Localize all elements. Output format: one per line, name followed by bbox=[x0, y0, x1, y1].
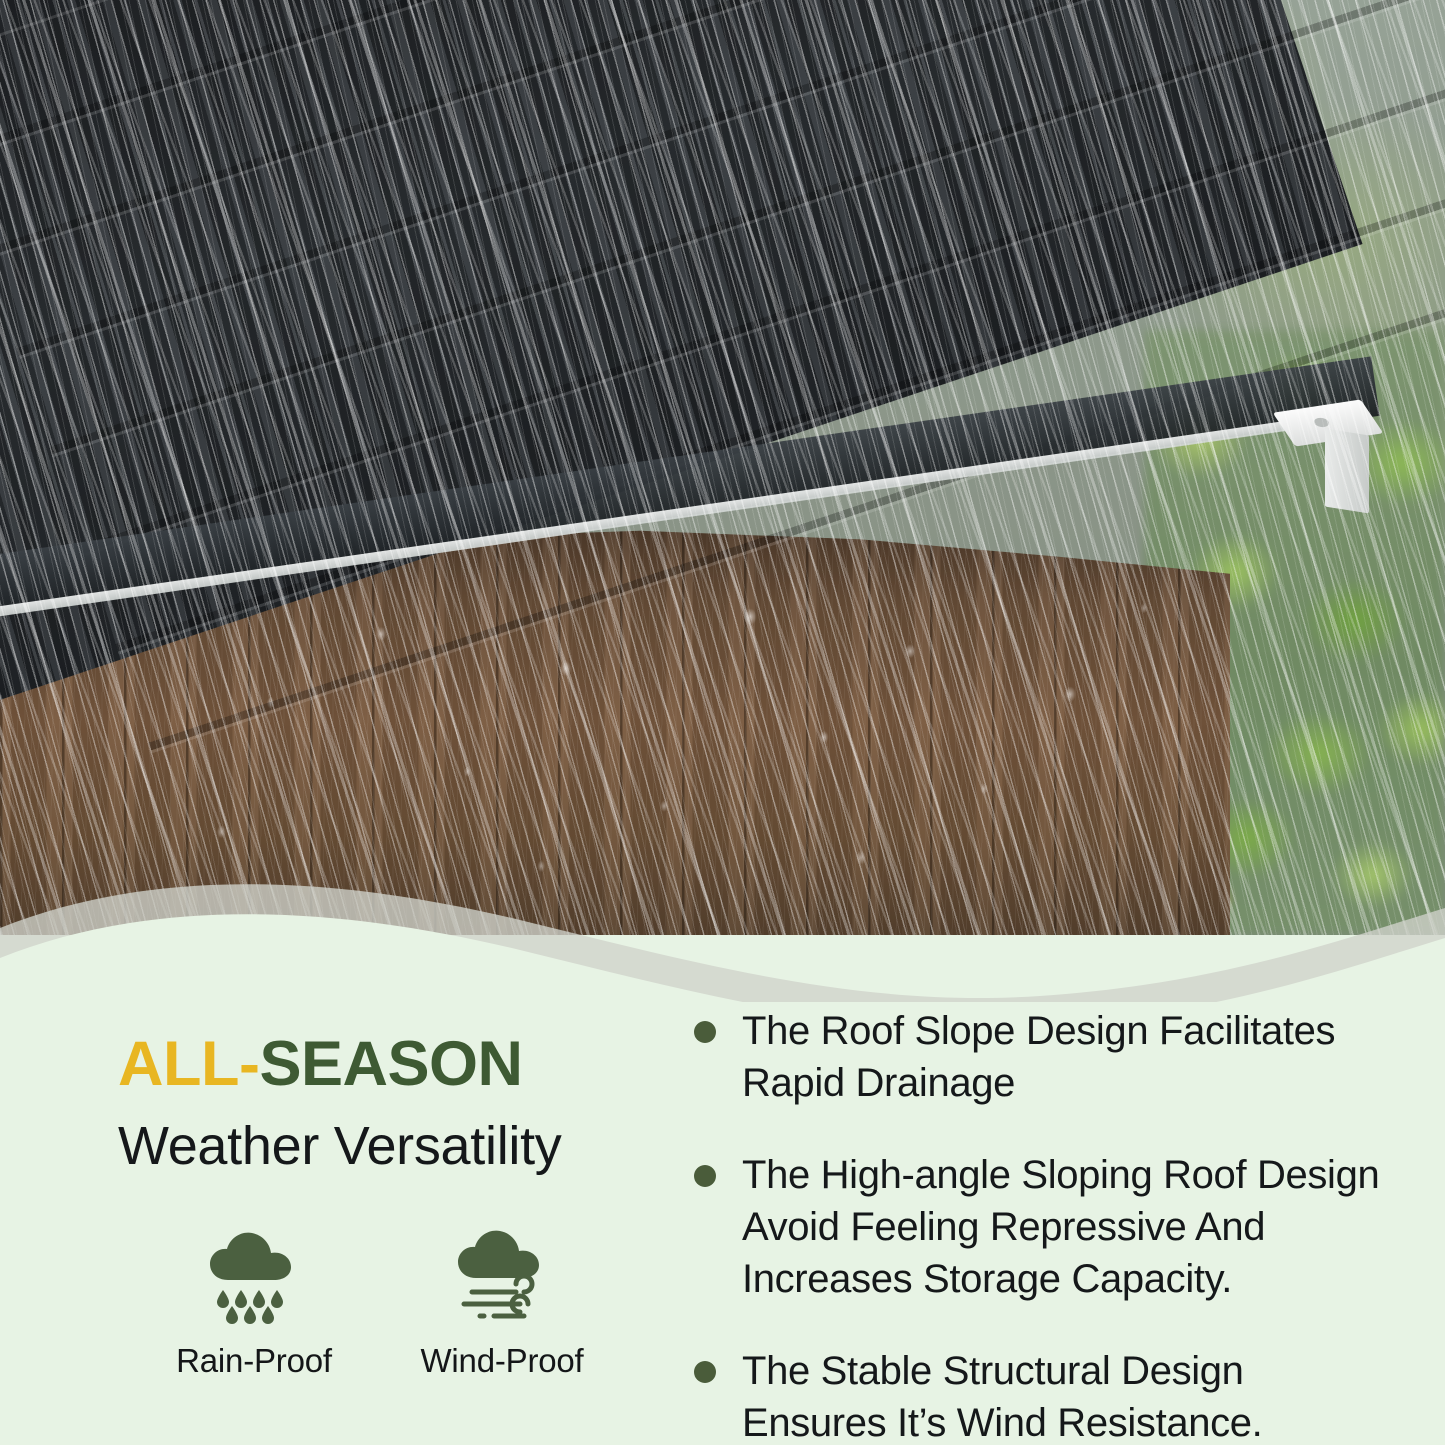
page-title: ALL-SEASON bbox=[118, 1033, 680, 1096]
product-feature-card: ALL-SEASON Weather Versatility bbox=[0, 0, 1445, 1445]
bullet-text: The Roof Slope Design Facilitates Rapid … bbox=[742, 1005, 1385, 1109]
wind-cloud-icon bbox=[378, 1220, 626, 1328]
list-item: The Roof Slope Design Facilitates Rapid … bbox=[694, 1005, 1385, 1109]
feature-rain-proof: Rain-Proof bbox=[130, 1220, 378, 1380]
feature-label-wind-proof: Wind-Proof bbox=[378, 1342, 626, 1380]
info-panel-content: ALL-SEASON Weather Versatility bbox=[0, 975, 1445, 1445]
bullet-text: The Stable Structural Design Ensures It’… bbox=[742, 1345, 1385, 1445]
headline-column: ALL-SEASON Weather Versatility bbox=[0, 975, 680, 1445]
headline-gold-part: ALL- bbox=[118, 1029, 259, 1099]
bullet-dot-icon bbox=[694, 1361, 716, 1383]
rain-cloud-icon bbox=[130, 1220, 378, 1328]
bullet-text: The High-angle Sloping Roof Design Avoid… bbox=[742, 1149, 1385, 1305]
bullet-dot-icon bbox=[694, 1165, 716, 1187]
feature-bullet-list: The Roof Slope Design Facilitates Rapid … bbox=[680, 1005, 1445, 1445]
bullet-column: The Roof Slope Design Facilitates Rapid … bbox=[680, 975, 1445, 1445]
list-item: The High-angle Sloping Roof Design Avoid… bbox=[694, 1149, 1385, 1305]
headline-green-part: SEASON bbox=[259, 1029, 522, 1099]
bullet-dot-icon bbox=[694, 1021, 716, 1043]
product-photo bbox=[0, 0, 1445, 935]
feature-label-rain-proof: Rain-Proof bbox=[130, 1342, 378, 1380]
feature-wind-proof: Wind-Proof bbox=[378, 1220, 626, 1380]
list-item: The Stable Structural Design Ensures It’… bbox=[694, 1345, 1385, 1445]
wave-divider bbox=[0, 812, 1445, 1002]
feature-icon-row: Rain-Proof Wind-Proof bbox=[130, 1220, 680, 1380]
gutter-bracket-face bbox=[1325, 429, 1369, 514]
page-subtitle: Weather Versatility bbox=[118, 1116, 680, 1176]
